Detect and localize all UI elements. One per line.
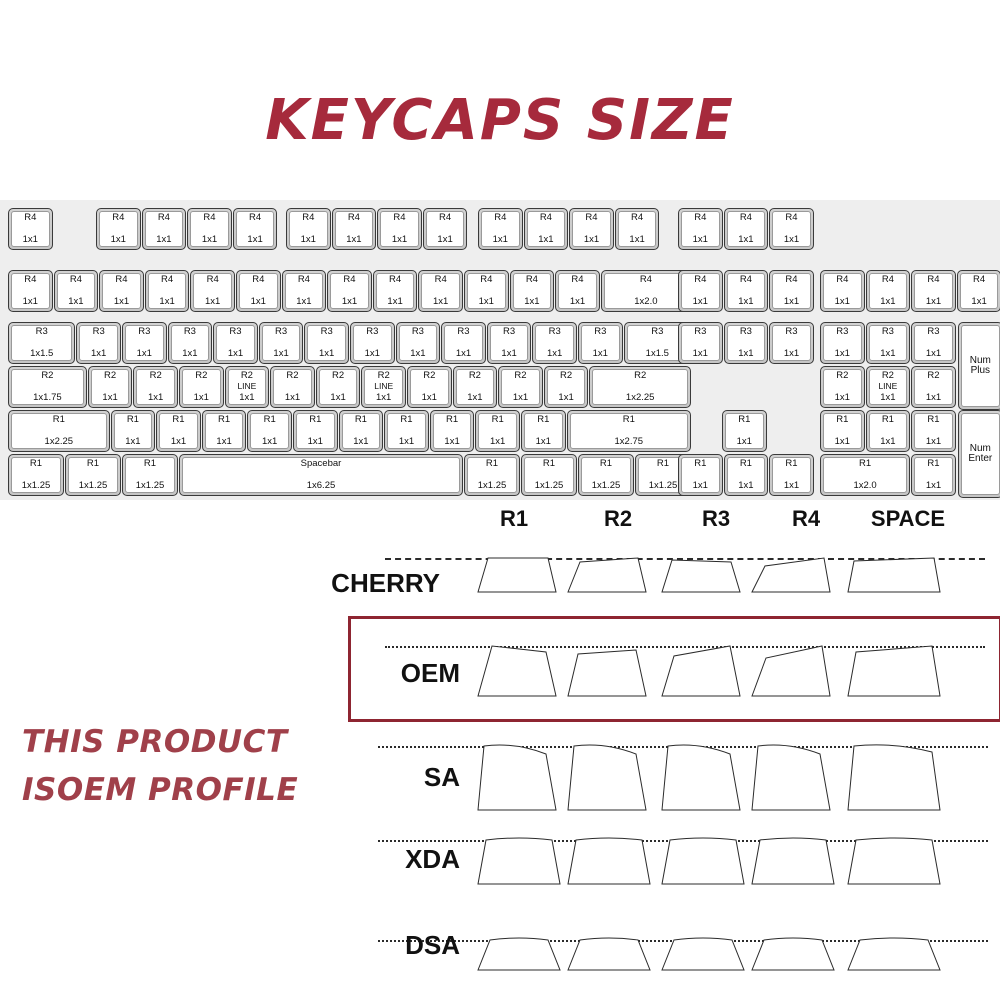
keycap[interactable]: R11x1	[384, 410, 429, 452]
keycap[interactable]: R11x1	[911, 410, 956, 452]
callout-line-2: ISOEM PROFILE	[22, 766, 352, 814]
keycap-row-label: R3	[366, 327, 378, 337]
keycap[interactable]: R41x1	[478, 208, 523, 250]
keycap-size-label: 1x1	[159, 297, 174, 307]
keycap-row-label: R4	[302, 213, 314, 223]
keycap-size-label: 1x1	[971, 297, 986, 307]
keycap-size-label: 1x1	[365, 349, 380, 359]
keycap-row-label: R1	[172, 415, 184, 425]
keycap[interactable]: R11x1	[724, 454, 769, 496]
keycap[interactable]: R41x1	[190, 270, 235, 312]
keycap[interactable]: R41x1	[678, 270, 723, 312]
keycap[interactable]: R11x1	[678, 454, 723, 496]
keycap[interactable]: R21x1	[820, 366, 865, 408]
keycap-size-label: 1x1	[570, 297, 585, 307]
keycap-row-label: R1	[785, 459, 797, 469]
keycap-row-label: R4	[585, 213, 597, 223]
keycap[interactable]: R41x1	[510, 270, 555, 312]
keycap-size-label: 1x1	[880, 393, 895, 403]
keycap[interactable]: R11x1	[820, 410, 865, 452]
keycap-size-label: 1x1	[524, 297, 539, 307]
keycap-size-label: 1x1	[835, 297, 850, 307]
keycap[interactable]: R11x1	[911, 454, 956, 496]
keycap[interactable]: R21x1	[544, 366, 589, 408]
keycap-profile-shape	[752, 746, 834, 814]
keycap-size-label: 1x1	[247, 235, 262, 245]
keycap[interactable]: R41x1	[142, 208, 187, 250]
keycap-size-label: 1x1	[433, 297, 448, 307]
keycap-size-label: 1x1.25	[22, 481, 51, 491]
keycap[interactable]: R41x1	[423, 208, 468, 250]
keycap-size-label: 1x1	[422, 393, 437, 403]
keycap[interactable]: R11x2.0	[820, 454, 910, 496]
keycap-row-label: R4	[694, 213, 706, 223]
keycap[interactable]: R11x1	[111, 410, 156, 452]
keycap[interactable]: R41x1	[373, 270, 418, 312]
keycap-profile-shape	[752, 840, 838, 888]
keycap-row-label: R2	[560, 371, 572, 381]
keycap-size-label: 1x1	[202, 235, 217, 245]
keycap-row-label: R3	[694, 327, 706, 337]
keycap-row-label: R4	[785, 275, 797, 285]
keycap[interactable]: R21x1	[88, 366, 133, 408]
keycap[interactable]: R41x1	[236, 270, 281, 312]
keycap-row-label: R3	[275, 327, 287, 337]
keycap-size-label: 1x1	[547, 349, 562, 359]
keycap[interactable]: R41x1	[769, 270, 814, 312]
keycap-size-label: 1x1	[296, 297, 311, 307]
keycap-size-label: 1x1	[926, 437, 941, 447]
profile-column-header-r2: R2	[568, 506, 668, 532]
keycap-size-label: 1x1	[456, 349, 471, 359]
keycap-homing-marker: LINE	[237, 382, 256, 391]
keycap-profile-shape	[662, 840, 748, 888]
callout-line-1: THIS PRODUCT	[22, 718, 352, 766]
keycap-row-label: R4	[393, 213, 405, 223]
keycap-row-label: R2	[150, 371, 162, 381]
keycap-row-label: R1	[740, 459, 752, 469]
keycap-size-label: 1x6.25	[307, 481, 336, 491]
keycap-profile-shape	[478, 746, 560, 814]
keycap-row-label: R1	[927, 459, 939, 469]
keycap[interactable]: R21x1	[270, 366, 315, 408]
keycap-size-label: 1x1	[285, 393, 300, 403]
keycap-row-label: R4	[348, 213, 360, 223]
keycap-row-label: R4	[694, 275, 706, 285]
keycap-row-label: R4	[24, 213, 36, 223]
keycap-size-label: 1x1	[171, 437, 186, 447]
keycap[interactable]: Spacebar1x6.25	[179, 454, 463, 496]
keycap-row-label: R2	[882, 371, 894, 381]
keycap-row-label: R1	[446, 415, 458, 425]
keycap-profile-shape	[848, 558, 944, 596]
keycap-size-label: 1x1	[346, 235, 361, 245]
keycap-row-label: R4	[343, 275, 355, 285]
keycap[interactable]: R21x1	[316, 366, 361, 408]
keycap-row-label: R1	[486, 459, 498, 469]
keycap-size-label: 1x1	[737, 437, 752, 447]
keycap-row-label: R1	[927, 415, 939, 425]
keycap[interactable]: R31x1	[441, 322, 486, 364]
keycap[interactable]: R41x1	[96, 208, 141, 250]
keycap[interactable]: R11x1.25	[65, 454, 121, 496]
keycap[interactable]: NumPlus	[958, 322, 1000, 410]
keycap[interactable]: R11x1.25	[464, 454, 520, 496]
keycap[interactable]: R41x1	[524, 208, 569, 250]
keycap[interactable]: R11x1	[339, 410, 384, 452]
keycap[interactable]: R41x1	[464, 270, 509, 312]
keycap[interactable]: R31x1	[724, 322, 769, 364]
keycap-size-label: 1x1	[23, 235, 38, 245]
keycap-row-label: R2	[104, 371, 116, 381]
keycap-size-label: 1x1	[738, 297, 753, 307]
keycap-row-label: R4	[112, 213, 124, 223]
keycap-row-label: R3	[138, 327, 150, 337]
keycap-profile-shape	[848, 940, 944, 974]
keycap-size-label: 1x2.0	[853, 481, 876, 491]
keycap-row-label: R3	[229, 327, 241, 337]
keycap-size-label: 1x1	[387, 297, 402, 307]
keycap[interactable]: R21x1	[407, 366, 452, 408]
keycap-size-label: 1x1	[308, 437, 323, 447]
keycap-size-label: 1x2.75	[615, 437, 644, 447]
keycap-profile-shape	[662, 746, 744, 814]
keycap-size-label: 1x1	[835, 393, 850, 403]
keycap-row-label: R3	[785, 327, 797, 337]
keycap-size-label: 1x1	[319, 349, 334, 359]
keycap[interactable]: R41x1	[187, 208, 232, 250]
keycap[interactable]: R31x1	[76, 322, 121, 364]
keycap[interactable]: R41x1	[8, 208, 53, 250]
keycap-size-label: 1x1	[693, 235, 708, 245]
keycap-row-label: R4	[70, 275, 82, 285]
profile-column-header-r1: R1	[464, 506, 564, 532]
keycap-size-label: 1x1	[137, 349, 152, 359]
keycap-row-label: R1	[218, 415, 230, 425]
keycap[interactable]: R31x1	[213, 322, 258, 364]
keycap[interactable]: R11x1	[293, 410, 338, 452]
keycap-size-label: 1x1	[784, 235, 799, 245]
keycap[interactable]: R11x1	[769, 454, 814, 496]
keycap-size-label: 1x1.25	[535, 481, 564, 491]
keycap[interactable]: R31x1	[820, 322, 865, 364]
keycap[interactable]: R11x1	[156, 410, 201, 452]
keycap-row-label: R2	[514, 371, 526, 381]
keycap[interactable]: R41x1	[99, 270, 144, 312]
keycap[interactable]: R41x1	[8, 270, 53, 312]
keycap-profile-shape	[662, 940, 748, 974]
keycap[interactable]: R31x1	[122, 322, 167, 364]
keycap[interactable]: R11x1.25	[578, 454, 634, 496]
keycap-size-label: 1x1	[342, 297, 357, 307]
keycap-row-label: R1	[600, 459, 612, 469]
keycap-row-label: R4	[740, 213, 752, 223]
keycap-size-label: 1x1	[156, 235, 171, 245]
profile-label-dsa: DSA	[330, 930, 460, 961]
keycap-row-label: R4	[540, 213, 552, 223]
keycap[interactable]: R11x1	[722, 410, 767, 452]
keycap[interactable]: R11x1	[866, 410, 911, 452]
keycap[interactable]: R41x1	[866, 270, 911, 312]
keycap[interactable]: R31x1.5	[8, 322, 75, 364]
keycap-size-label: 1x1	[926, 393, 941, 403]
keycap-profile-shape	[662, 558, 744, 596]
keycap[interactable]: R21x1	[453, 366, 498, 408]
keycap-label: Enter	[968, 454, 992, 465]
keycap-row-label: R4	[252, 275, 264, 285]
keycap-row-label: R2	[836, 371, 848, 381]
keycap-row-label: R2	[423, 371, 435, 381]
keycap-size-label: 1x2.25	[626, 393, 655, 403]
keycap[interactable]: R11x1	[521, 410, 566, 452]
keycap-row-label: R3	[836, 327, 848, 337]
keycap[interactable]: R41x1	[286, 208, 331, 250]
keycap[interactable]: R21x1.75	[8, 366, 87, 408]
keycap-row-label: R3	[651, 327, 663, 337]
keycap[interactable]: R41x1	[377, 208, 422, 250]
keycap-size-label: 1x1	[926, 481, 941, 491]
keycap-size-label: 1x2.25	[45, 437, 74, 447]
keycap[interactable]: R31x1	[259, 322, 304, 364]
keycap-row-label: R4	[439, 213, 451, 223]
keycap-size-label: 1x1	[194, 393, 209, 403]
keycap-size-label: 1x1.25	[478, 481, 507, 491]
keycap-row-label: R3	[740, 327, 752, 337]
keycap[interactable]: R41x1	[820, 270, 865, 312]
keycap-size-label: 1x1.5	[30, 349, 53, 359]
keycap-row-label: R4	[526, 275, 538, 285]
keycap-size-label: 1x1	[102, 393, 117, 403]
keycap[interactable]: R31x1	[769, 322, 814, 364]
keycap-row-label: R1	[144, 459, 156, 469]
profile-label-cherry: CHERRY	[310, 568, 440, 599]
keycap-size-label: 1x1	[629, 235, 644, 245]
keycap[interactable]: R41x1	[569, 208, 614, 250]
keycap[interactable]: R41x1	[332, 208, 377, 250]
keycap-row-label: R1	[53, 415, 65, 425]
keycap-row-label: R4	[631, 213, 643, 223]
page-title: KEYCAPS SIZE	[0, 88, 1000, 153]
keycap[interactable]: R2LINE1x1	[866, 366, 911, 408]
keycap[interactable]: R41x1	[54, 270, 99, 312]
keycap-row-label: R4	[973, 275, 985, 285]
keycap-row-label: R4	[836, 275, 848, 285]
keycap[interactable]: R11x1	[430, 410, 475, 452]
keycap[interactable]: R31x1	[678, 322, 723, 364]
keycap-size-label: 1x1	[111, 235, 126, 245]
keycap[interactable]: R31x1	[911, 322, 956, 364]
keycap-row-label: R4	[298, 275, 310, 285]
keycap-row-label: R1	[30, 459, 42, 469]
keycap-row-label: R3	[503, 327, 515, 337]
keycap-row-label: R1	[859, 459, 871, 469]
keycap-size-label: 1x1	[493, 235, 508, 245]
profile-column-header-r4: R4	[756, 506, 856, 532]
keycap[interactable]: R11x1.25	[122, 454, 178, 496]
keycap[interactable]: R31x1	[396, 322, 441, 364]
keycap-size-label: 1x1	[835, 349, 850, 359]
keycap-row-label: R4	[927, 275, 939, 285]
keycap[interactable]: R11x1	[247, 410, 292, 452]
keycap-row-label: R3	[36, 327, 48, 337]
profile-column-header-space: SPACE	[858, 506, 958, 532]
keycap-size-label: 1x1	[301, 235, 316, 245]
keycap-profile-shape	[568, 940, 654, 974]
keycap-size-label: 1x1	[114, 297, 129, 307]
keycap-size-label: 1x1	[501, 349, 516, 359]
keycap[interactable]: R41x1	[233, 208, 278, 250]
keycap[interactable]: R31x1	[487, 322, 532, 364]
keycap-size-label: 1x1	[410, 349, 425, 359]
keycap-row-label: R3	[412, 327, 424, 337]
keycap[interactable]: R21x1	[498, 366, 543, 408]
keycap[interactable]: R2LINE1x1	[225, 366, 270, 408]
keycap-size-label: 1x1	[880, 297, 895, 307]
keycap[interactable]: R41x1	[145, 270, 190, 312]
keycap-row-label: R4	[158, 213, 170, 223]
keycap-row-label: R4	[571, 275, 583, 285]
keycap-row-label: R1	[492, 415, 504, 425]
keycap-row-label: R4	[389, 275, 401, 285]
keycap-row-label: R1	[87, 459, 99, 469]
keycap[interactable]: R41x1	[327, 270, 372, 312]
keycap-row-label: R1	[355, 415, 367, 425]
keycap-row-label: R4	[435, 275, 447, 285]
keycap-size-label: 1x1	[467, 393, 482, 403]
keycap-profile-shape	[568, 558, 650, 596]
keycap-size-label: 1x1	[784, 481, 799, 491]
keycap[interactable]: R31x1	[532, 322, 577, 364]
keycap[interactable]: R11x1.25	[521, 454, 577, 496]
keycap-size-label: 1x1	[399, 437, 414, 447]
keycap-row-label: R2	[378, 371, 390, 381]
keycap[interactable]: R21x1	[179, 366, 224, 408]
keycap-label: Plus	[971, 366, 990, 377]
keycap[interactable]: R41x1	[724, 270, 769, 312]
keycap-row-label: R2	[195, 371, 207, 381]
keycap[interactable]: R21x1	[133, 366, 178, 408]
keycap-size-label: 1x2.0	[634, 297, 657, 307]
keycap[interactable]: R41x1	[555, 270, 600, 312]
keycap-row-label: R4	[740, 275, 752, 285]
keycap-size-label: 1x1	[538, 235, 553, 245]
keycap[interactable]: R11x1.25	[8, 454, 64, 496]
keycap-row-label: R2	[469, 371, 481, 381]
keycap-row-label: R2	[41, 371, 53, 381]
keycap-size-label: 1x1	[584, 235, 599, 245]
keycap[interactable]: R41x1	[615, 208, 660, 250]
keycap[interactable]: R41x1	[724, 208, 769, 250]
keycap[interactable]: R2LINE1x1	[361, 366, 406, 408]
keycap-row-label: R4	[640, 275, 652, 285]
keycap-row-label: R4	[24, 275, 36, 285]
keycap-row-label: R1	[127, 415, 139, 425]
keycap-row-label: R2	[927, 371, 939, 381]
keycap[interactable]: R41x1	[418, 270, 463, 312]
keycap-row-label: R2	[241, 371, 253, 381]
keycap-size-label: 1x1	[148, 393, 163, 403]
keycap[interactable]: R31x1	[304, 322, 349, 364]
keycap-profile-shape	[752, 558, 834, 596]
keycap[interactable]: R41x1	[957, 270, 1000, 312]
keycap-size-label: 1x1	[490, 437, 505, 447]
keycap-row-label: R3	[594, 327, 606, 337]
keycap-homing-marker: LINE	[374, 382, 393, 391]
keycap-size-label: 1x1	[880, 437, 895, 447]
keycap-row-label: R4	[203, 213, 215, 223]
keycap-size-label: 1x1	[182, 349, 197, 359]
keycap[interactable]: R31x1	[350, 322, 395, 364]
keycap-size-label: 1x1	[262, 437, 277, 447]
keycap-row-label: R2	[332, 371, 344, 381]
keycap-row-label: R1	[543, 459, 555, 469]
keycap-profile-shape	[568, 746, 650, 814]
keycap[interactable]: R41x1	[911, 270, 956, 312]
keycap-row-label: R1	[738, 415, 750, 425]
keycap-size-label: 1x1	[91, 349, 106, 359]
keycap-size-label: 1x1	[513, 393, 528, 403]
keycap-size-label: 1x1	[738, 481, 753, 491]
keycap-row-label: R2	[634, 371, 646, 381]
keycap-row-label: R2	[286, 371, 298, 381]
keycap-size-label: 1x1	[738, 349, 753, 359]
keycap-row-label: R3	[321, 327, 333, 337]
keycap-row-label: Spacebar	[301, 459, 342, 469]
keycap-size-label: 1x1	[353, 437, 368, 447]
keycap[interactable]: R41x1	[769, 208, 814, 250]
keycap[interactable]: R41x1	[678, 208, 723, 250]
keycap-size-label: 1x1.75	[33, 393, 62, 403]
keycap[interactable]: R31x1	[866, 322, 911, 364]
keyboard-layout-panel: R41x1R41x1R41x1R41x1R41x1R41x1R41x1R41x1…	[0, 200, 1000, 500]
keycap-size-label: 1x1	[835, 437, 850, 447]
keycap-size-label: 1x1	[205, 297, 220, 307]
keycap-row-label: R1	[537, 415, 549, 425]
keycap[interactable]: R11x2.75	[567, 410, 691, 452]
keycap-row-label: R4	[882, 275, 894, 285]
keycap-profile-shape	[568, 840, 654, 888]
keycap[interactable]: R21x2.25	[589, 366, 691, 408]
keycap[interactable]: R21x1	[911, 366, 956, 408]
keycap-size-label: 1x1	[784, 297, 799, 307]
keycap-size-label: 1x1	[926, 349, 941, 359]
keycap-row-label: R1	[882, 415, 894, 425]
keycap[interactable]: R11x1	[475, 410, 520, 452]
keycap[interactable]: R41x1	[282, 270, 327, 312]
keycap[interactable]: NumEnter	[958, 410, 1000, 498]
keycap-size-label: 1x1	[251, 297, 266, 307]
keycap-size-label: 1x1	[444, 437, 459, 447]
keycap-size-label: 1x1	[392, 235, 407, 245]
keycap-size-label: 1x1	[693, 297, 708, 307]
keycap-profile-shape	[478, 840, 564, 888]
keycap-size-label: 1x1	[738, 235, 753, 245]
keycap-row-label: R1	[694, 459, 706, 469]
keycap[interactable]: R11x2.25	[8, 410, 110, 452]
keycap-row-label: R1	[657, 459, 669, 469]
keycap-size-label: 1x1	[437, 235, 452, 245]
keycap-row-label: R3	[457, 327, 469, 337]
keycap-size-label: 1x1	[239, 393, 254, 403]
keycap-size-label: 1x1	[536, 437, 551, 447]
keycap[interactable]: R31x1	[168, 322, 213, 364]
keycap-row-label: R1	[309, 415, 321, 425]
keycap-profile-shape	[848, 840, 944, 888]
keycap-size-label: 1x1	[558, 393, 573, 403]
keycap[interactable]: R11x1	[202, 410, 247, 452]
keycap-row-label: R4	[207, 275, 219, 285]
keycap[interactable]: R31x1	[578, 322, 623, 364]
